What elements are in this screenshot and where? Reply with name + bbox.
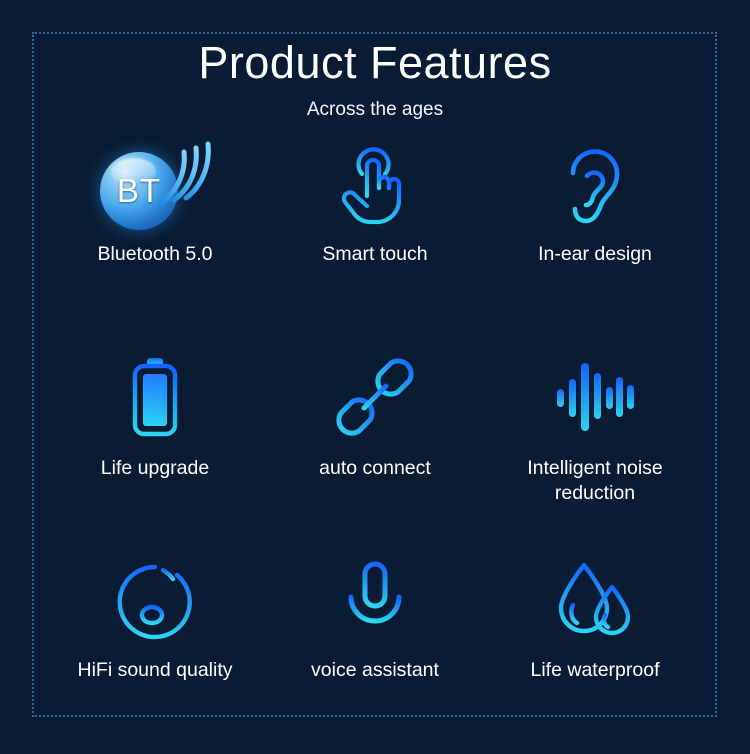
feature-label: In-ear design <box>538 242 652 267</box>
feature-label: HiFi sound quality <box>78 658 233 683</box>
bluetooth-signal-arcs-icon <box>156 138 212 210</box>
icon-container <box>561 130 629 242</box>
feature-item-auto-connect: auto connect <box>265 338 485 546</box>
feature-item-hifi: HiFi sound quality <box>45 546 265 754</box>
icon-container <box>115 546 195 658</box>
page-subtitle: Across the ages <box>0 98 750 122</box>
page-title: Product Features <box>0 36 750 90</box>
icon-container <box>337 130 413 242</box>
product-features-poster: Product Features Across the ages BT <box>0 0 750 750</box>
feature-label: auto connect <box>319 456 431 481</box>
feature-item-waterproof: Life waterproof <box>485 546 705 754</box>
feature-item-life-upgrade: Life upgrade <box>45 338 265 546</box>
icon-container: BT <box>100 130 210 242</box>
sound-wave-icon <box>554 359 636 435</box>
feature-item-bluetooth: BT Bluetooth 5.0 <box>45 130 265 338</box>
feature-label: Bluetooth 5.0 <box>98 242 213 267</box>
feature-label: Life waterproof <box>531 658 660 683</box>
microphone-icon <box>338 561 412 643</box>
icon-container <box>553 546 637 658</box>
chain-link-icon <box>333 355 417 439</box>
feature-item-noise-reduction: Intelligent noise reduction <box>485 338 705 546</box>
icon-container <box>338 546 412 658</box>
feature-label: voice assistant <box>311 658 439 683</box>
ear-icon <box>561 143 629 229</box>
battery-icon <box>126 355 184 439</box>
icon-container <box>333 338 417 456</box>
feature-item-smart-touch: Smart touch <box>265 130 485 338</box>
music-note-circle-icon <box>115 562 195 642</box>
features-grid: BT Bluetooth 5.0 <box>45 130 705 754</box>
smart-touch-hand-icon <box>337 144 413 228</box>
feature-item-voice-assistant: voice assistant <box>265 546 485 754</box>
feature-label: Smart touch <box>322 242 427 267</box>
icon-container <box>554 338 636 456</box>
feature-label: Intelligent noise reduction <box>527 456 663 506</box>
bluetooth-badge-label: BT <box>117 172 161 210</box>
bluetooth-orb-icon: BT <box>100 138 210 234</box>
water-drops-icon <box>553 561 637 643</box>
icon-container <box>126 338 184 456</box>
feature-item-in-ear: In-ear design <box>485 130 705 338</box>
poster-header: Product Features Across the ages <box>0 36 750 122</box>
feature-label: Life upgrade <box>101 456 209 481</box>
